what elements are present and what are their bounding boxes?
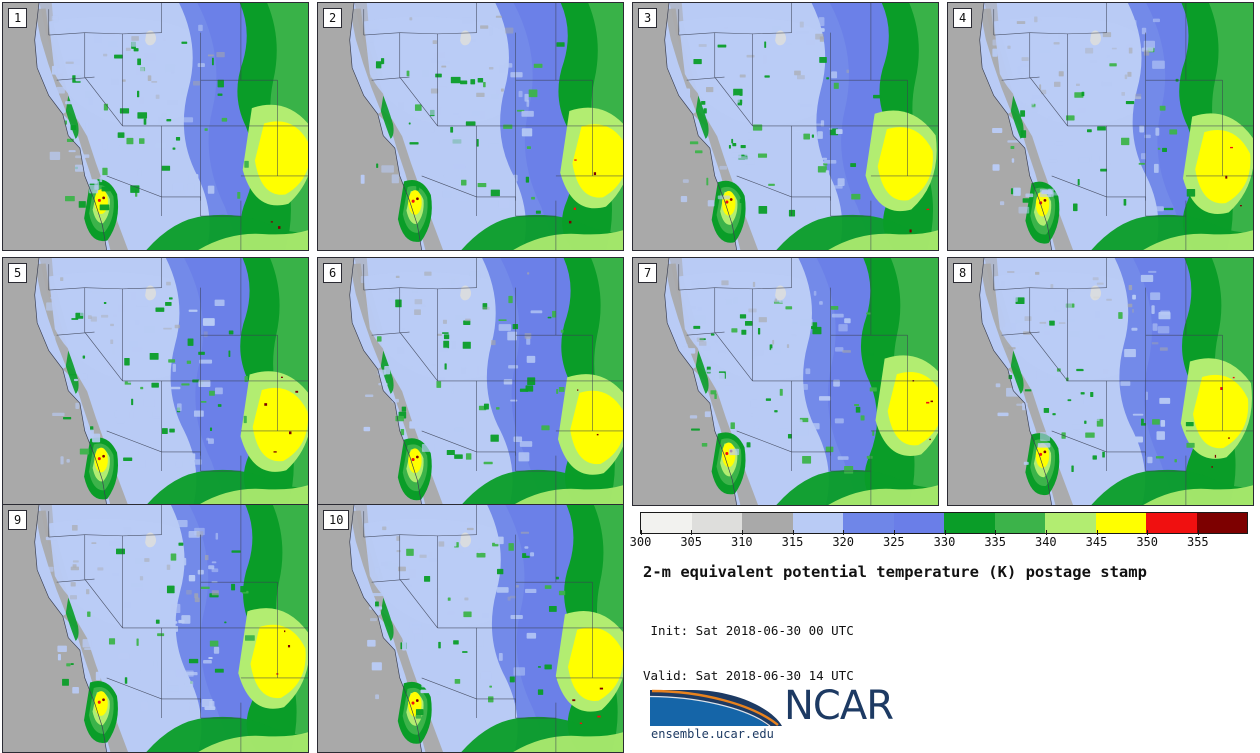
plot-title: 2-m equivalent potential temperature (K)…	[643, 563, 1243, 581]
colorbar-tick-label: 300	[621, 535, 661, 549]
ensemble-url: ensemble.ucar.edu	[651, 727, 774, 741]
colorbar-tick-label: 345	[1077, 535, 1117, 549]
map-panel[interactable]: 6	[317, 257, 624, 506]
map-contour-field	[318, 3, 623, 250]
ncar-logo-block: NCAR ensemble.ucar.edu	[648, 684, 968, 742]
valid-time-line: Valid: Sat 2018-06-30 14 UTC	[643, 668, 1243, 683]
ncar-logo-icon	[648, 684, 788, 728]
map-contour-field	[633, 258, 938, 505]
map-panel[interactable]: 2	[317, 2, 624, 251]
map-contour-field	[3, 258, 308, 505]
panel-number-badge: 5	[8, 263, 27, 283]
colorbar-tick-label: 305	[671, 535, 711, 549]
colorbar-segment	[944, 513, 995, 533]
colorbar-segment	[1197, 513, 1248, 533]
colorbar-tick-label: 355	[1178, 535, 1218, 549]
colorbar-tick-label: 310	[722, 535, 762, 549]
panel-number-badge: 7	[638, 263, 657, 283]
colorbar-legend: 300305310315320325330335340345350355	[640, 508, 1252, 556]
colorbar-tick-labels: 300305310315320325330335340345350355	[640, 535, 1248, 553]
map-panel[interactable]: 4	[947, 2, 1254, 251]
map-panel[interactable]: 7	[632, 257, 939, 506]
panel-number-badge: 1	[8, 8, 27, 28]
colorbar-segment	[995, 513, 1046, 533]
colorbar-tick-label: 320	[823, 535, 863, 549]
colorbar-tick-label: 340	[1026, 535, 1066, 549]
init-time-line: Init: Sat 2018-06-30 00 UTC	[643, 623, 1243, 638]
map-contour-field	[3, 505, 308, 752]
panel-number-badge: 4	[953, 8, 972, 28]
colorbar-segment	[1146, 513, 1197, 533]
colorbar-segment	[1096, 513, 1147, 533]
colorbar-segment	[843, 513, 894, 533]
colorbar-segment	[742, 513, 793, 533]
colorbar-tick-label: 330	[925, 535, 965, 549]
colorbar-segment	[894, 513, 945, 533]
panel-number-badge: 9	[8, 510, 27, 530]
map-contour-field	[948, 258, 1253, 505]
map-panel[interactable]: 5	[2, 257, 309, 506]
map-contour-field	[318, 505, 623, 752]
panel-number-badge: 8	[953, 263, 972, 283]
colorbar-tick-label: 315	[773, 535, 813, 549]
map-contour-field	[3, 3, 308, 250]
panel-number-badge: 10	[323, 510, 349, 530]
colorbar-segment	[1045, 513, 1096, 533]
colorbar-tick-label: 350	[1127, 535, 1167, 549]
panel-number-badge: 6	[323, 263, 342, 283]
ncar-wordmark: NCAR	[784, 683, 893, 729]
map-panel[interactable]: 3	[632, 2, 939, 251]
panel-number-badge: 2	[323, 8, 342, 28]
panel-number-badge: 3	[638, 8, 657, 28]
map-contour-field	[633, 3, 938, 250]
map-panel[interactable]: 1	[2, 2, 309, 251]
colorbar-segment	[641, 513, 692, 533]
colorbar-segment	[692, 513, 743, 533]
map-contour-field	[948, 3, 1253, 250]
map-contour-field	[318, 258, 623, 505]
colorbar-tick-label: 335	[975, 535, 1015, 549]
map-panel[interactable]: 8	[947, 257, 1254, 506]
colorbar-segment	[793, 513, 844, 533]
colorbar-tick-label: 325	[874, 535, 914, 549]
map-panel[interactable]: 10	[317, 504, 624, 753]
map-panel[interactable]: 9	[2, 504, 309, 753]
